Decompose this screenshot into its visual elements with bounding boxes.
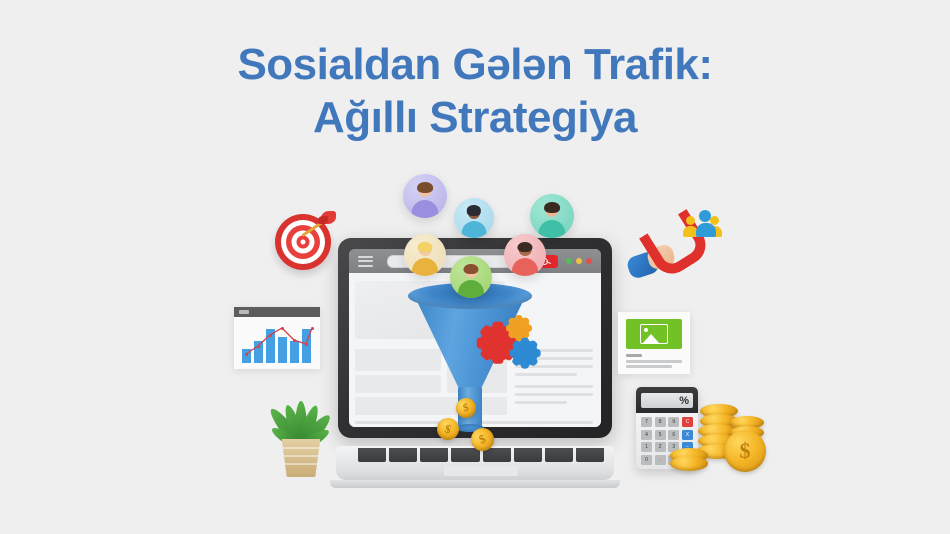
calc-key[interactable]: 0: [641, 455, 652, 465]
card-text-line: [626, 354, 642, 357]
calc-key[interactable]: 7: [641, 417, 652, 427]
title-line-2: Ağıllı Strategiya: [0, 91, 950, 144]
chart-card-header: [234, 307, 320, 317]
card-text-line: [626, 360, 682, 363]
avatar-purple: [403, 174, 447, 218]
gear-orange-icon: [508, 317, 530, 339]
calc-key[interactable]: 9: [668, 417, 679, 427]
avatar-mint: [530, 194, 574, 238]
dart-icon: [298, 209, 338, 239]
gear-blue-icon: [512, 340, 538, 366]
avatar-blue: [454, 198, 494, 238]
gold-coin-stack: $: [686, 390, 782, 472]
page-title: Sosialdan Gələn Trafik: Ağıllı Strategiy…: [0, 38, 950, 144]
laptop-trackpad: [444, 466, 518, 476]
picture-icon: [640, 324, 668, 344]
plant-pot: [280, 439, 322, 477]
calc-key[interactable]: 2: [655, 442, 666, 452]
avatar-pink: [504, 234, 546, 276]
dartboard-target-icon: [274, 213, 332, 271]
avatar-green: [450, 256, 492, 298]
hamburger-menu-icon[interactable]: [358, 253, 373, 269]
potted-plant-icon: [266, 385, 336, 477]
close-dot[interactable]: [586, 258, 592, 264]
person-icon-center: [696, 210, 716, 237]
avatar-cream: [404, 234, 446, 276]
magnet-attracting-users-icon: [628, 206, 724, 292]
calc-key[interactable]: 1: [641, 442, 652, 452]
chart-plot-area: [240, 322, 314, 363]
window-controls: [566, 258, 592, 264]
calc-key[interactable]: 8: [655, 417, 666, 427]
calc-key[interactable]: 6: [668, 430, 679, 440]
analytics-chart-card: [234, 307, 320, 369]
maximize-dot[interactable]: [576, 258, 582, 264]
calc-key[interactable]: 4: [641, 430, 652, 440]
image-thumbnail-card: [618, 312, 690, 374]
card-text-line: [626, 365, 672, 368]
card-image-area: [626, 319, 682, 349]
title-line-1: Sosialdan Gələn Trafik:: [0, 38, 950, 91]
minimize-dot[interactable]: [566, 258, 572, 264]
poster-canvas: Sosialdan Gələn Trafik: Ağıllı Strategiy…: [0, 0, 950, 534]
calc-key[interactable]: 5: [655, 430, 666, 440]
calc-key[interactable]: .: [655, 455, 666, 465]
coin-face: $: [724, 430, 766, 472]
